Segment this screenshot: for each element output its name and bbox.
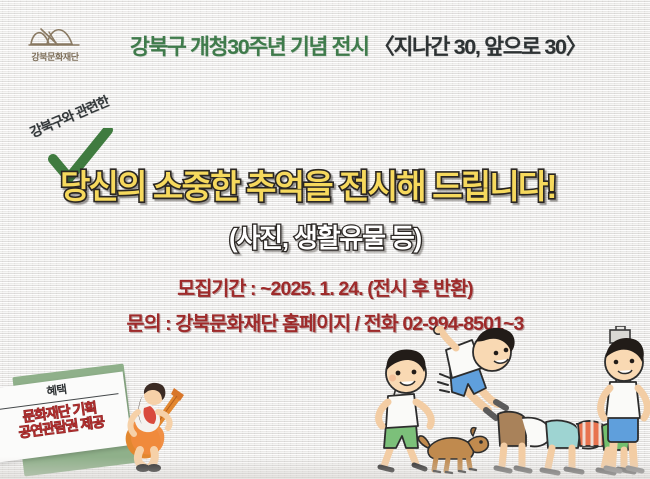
- cellist-illustration: [110, 378, 188, 478]
- main-headline: 당신의 소중한 추억을 전시해 드립니다!: [60, 160, 620, 208]
- jumping-boy: [434, 326, 515, 418]
- dog-illustration: [418, 428, 488, 473]
- running-boy: [379, 350, 432, 470]
- children-playing-leapfrog-illustration: [370, 326, 650, 479]
- recruitment-period-text: 모집기간 : ~2025. 1. 24. (전시 후 반환): [0, 272, 650, 301]
- foundation-logo: 강북문화재단: [17, 18, 93, 63]
- poster-canvas: 강북문화재단 강북구 개청30주년 기념 전시 〈지나간 30, 앞으로 30〉…: [0, 0, 650, 479]
- mountain-logo-icon: [17, 18, 93, 48]
- header-title-dark: 〈지나간 30, 앞으로 30〉: [373, 35, 586, 59]
- benefit-callout: 혜택 문화재단 기획 공연관람권 제공: [0, 368, 192, 479]
- exhibition-header: 강북구 개청30주년 기념 전시 〈지나간 30, 앞으로 30〉: [130, 30, 645, 61]
- foundation-logo-text: 강북문화재단: [17, 50, 93, 63]
- header-title-green: 강북구 개청30주년 기념 전시: [130, 35, 373, 59]
- sub-headline: (사진, 생활유물 등): [0, 218, 650, 255]
